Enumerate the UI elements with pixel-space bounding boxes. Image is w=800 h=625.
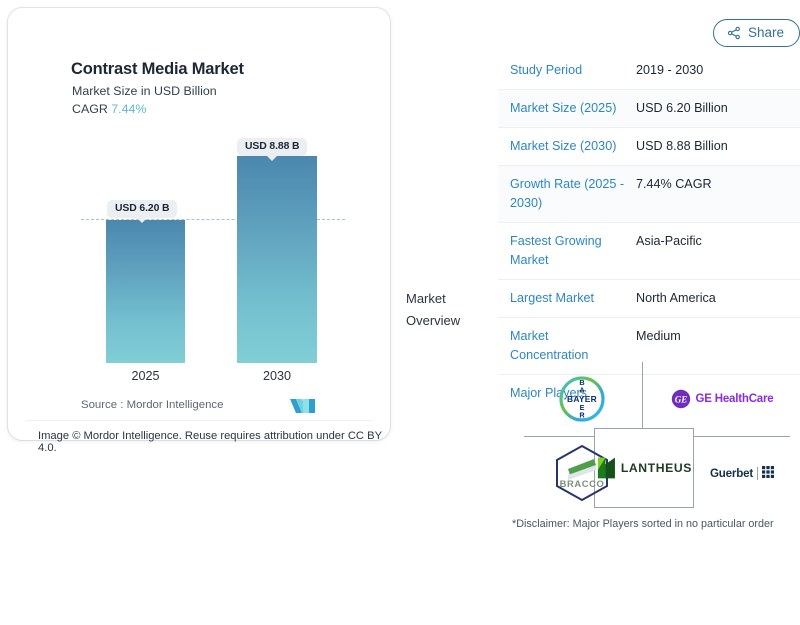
spec-key: Fastest Growing Market xyxy=(510,232,636,270)
table-row: Market Size (2030) USD 8.88 Billion xyxy=(498,127,800,165)
spec-value: North America xyxy=(636,289,716,308)
spec-key: Market Concentration xyxy=(510,327,636,365)
share-button[interactable]: Share xyxy=(713,19,800,47)
guerbet-divider xyxy=(757,467,758,480)
spec-value: USD 8.88 Billion xyxy=(636,137,728,156)
market-summary-panel: Share Study Period 2019 - 2030 Market Si… xyxy=(498,0,800,625)
guerbet-label: Guerbet xyxy=(710,467,753,480)
share-button-label: Share xyxy=(748,25,784,40)
guerbet-logo: Guerbet xyxy=(696,442,790,504)
x-tick-2025: 2025 xyxy=(106,369,185,383)
major-players-logo-grid: B A BAYER E R GE GE HealthCare xyxy=(524,362,790,508)
lantheus-label: LANTHEUS xyxy=(621,461,692,475)
bar-chart-plot: USD 6.20 B USD 8.88 B 2025 2030 xyxy=(8,8,390,440)
ge-healthcare-label: GE HealthCare xyxy=(696,393,774,405)
major-players-disclaimer: *Disclaimer: Major Players sorted in no … xyxy=(512,518,774,530)
table-row: Largest Market North America xyxy=(498,279,800,317)
grid-line-vertical xyxy=(642,362,643,436)
spec-value: USD 6.20 Billion xyxy=(636,99,728,118)
spec-value: Asia-Pacific xyxy=(636,232,702,251)
spec-key: Study Period xyxy=(510,61,636,80)
x-tick-2030: 2030 xyxy=(237,369,317,383)
market-overview-line-1: Market xyxy=(406,288,476,310)
guerbet-mark-icon xyxy=(762,466,776,480)
market-overview-label: Market Overview xyxy=(406,288,476,332)
svg-text:GE: GE xyxy=(674,395,687,405)
spec-key: Market Size (2030) xyxy=(510,137,636,156)
chart-source: Source : Mordor Intelligence xyxy=(81,399,223,411)
spec-key: Largest Market xyxy=(510,289,636,308)
spec-key: Market Size (2025) xyxy=(510,99,636,118)
spec-key: Growth Rate (2025 - 2030) xyxy=(510,175,636,213)
lantheus-logo: LANTHEUS xyxy=(596,430,692,506)
bar-label-2030: USD 8.88 B xyxy=(237,138,307,156)
bar-label-2025: USD 6.20 B xyxy=(107,200,177,218)
screenshot-root: Contrast Media Market Market Size in USD… xyxy=(0,0,800,625)
share-nodes-icon xyxy=(727,26,741,40)
spec-value: Medium xyxy=(636,327,681,346)
table-row: Growth Rate (2025 - 2030) 7.44% CAGR xyxy=(498,165,800,222)
ge-healthcare-logo: GE GE HealthCare xyxy=(654,366,790,432)
bayer-logo: B A BAYER E R xyxy=(530,366,634,432)
attribution-text: Image © Mordor Intelligence. Reuse requi… xyxy=(38,430,390,454)
market-overview-line-2: Overview xyxy=(406,310,476,332)
mordor-intelligence-logo xyxy=(289,396,319,416)
spec-value: 2019 - 2030 xyxy=(636,61,703,80)
chart-card: Contrast Media Market Market Size in USD… xyxy=(8,8,390,440)
table-row: Study Period 2019 - 2030 xyxy=(498,52,800,89)
market-spec-table: Study Period 2019 - 2030 Market Size (20… xyxy=(498,52,800,412)
bar-2025[interactable] xyxy=(106,220,185,363)
spec-value: 7.44% CAGR xyxy=(636,175,712,194)
bar-2030[interactable] xyxy=(237,156,317,363)
table-row: Fastest Growing Market Asia-Pacific xyxy=(498,222,800,279)
table-row: Market Size (2025) USD 6.20 Billion xyxy=(498,89,800,127)
card-divider xyxy=(26,420,372,421)
svg-text:R: R xyxy=(579,411,585,420)
